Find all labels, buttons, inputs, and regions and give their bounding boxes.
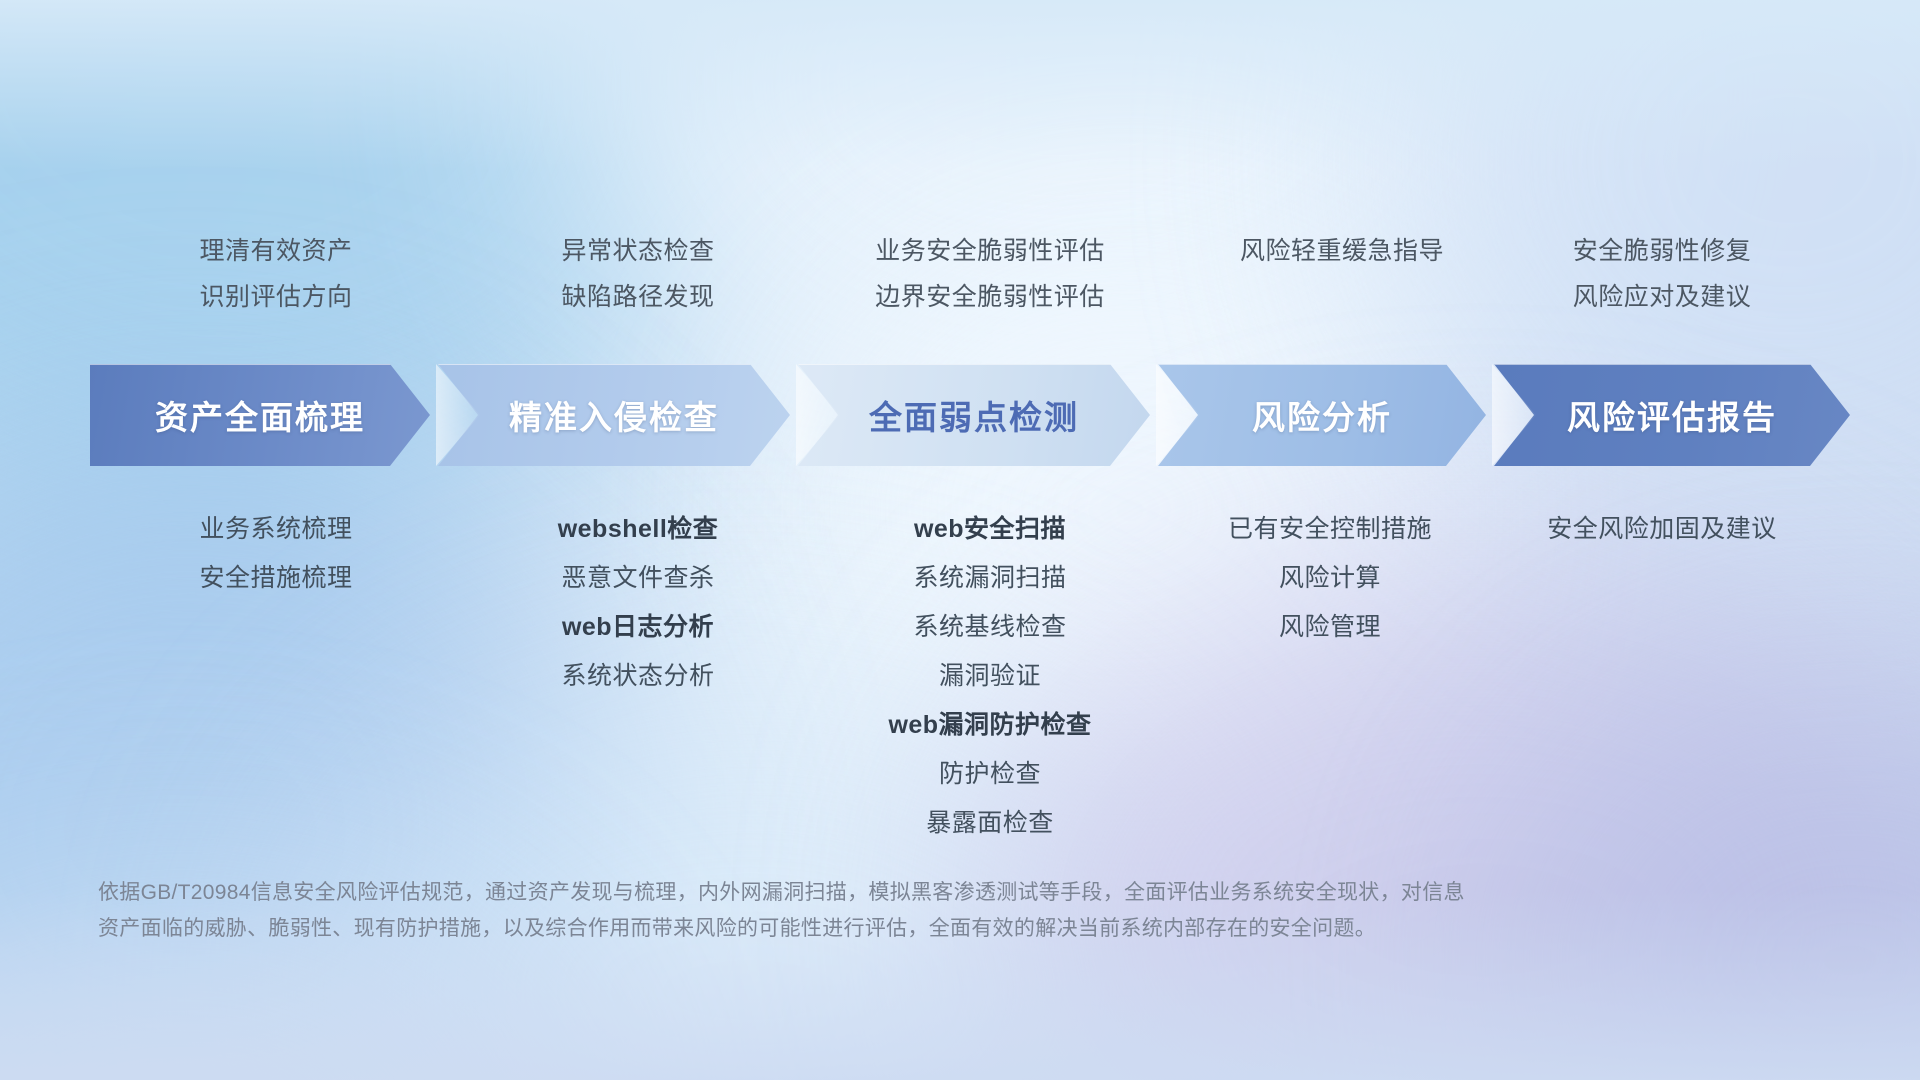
stage-item: 安全风险加固及建议 [1494,505,1830,554]
top-note: 边界安全脆弱性评估 [814,274,1166,320]
top-notes-intrusion-check: 异常状态检查 缺陷路径发现 [462,228,814,320]
top-note: 业务安全脆弱性评估 [814,228,1166,274]
top-note: 风险应对及建议 [1494,274,1830,320]
items-asset-inventory: 业务系统梳理 安全措施梳理 [90,505,462,603]
chevron-title: 全面弱点检测 [869,391,1079,439]
stage-item: 系统漏洞扫描 [814,554,1166,603]
chevron-stage-asset-inventory[interactable]: 资产全面梳理 [90,364,430,466]
chevron-stage-risk-analysis[interactable]: 风险分析 [1158,364,1486,466]
top-note: 理清有效资产 [90,228,462,274]
stage-item: 恶意文件查杀 [462,554,814,603]
stage-item: 系统状态分析 [462,652,814,701]
stage-item: 漏洞验证 [814,652,1166,701]
stage-items-row: 业务系统梳理 安全措施梳理 webshell检查 恶意文件查杀 web日志分析 … [90,505,1830,848]
slide-canvas: 理清有效资产 识别评估方向 异常状态检查 缺陷路径发现 业务安全脆弱性评估 边界… [0,0,1920,1080]
chevron-title: 资产全面梳理 [155,391,365,439]
top-note: 识别评估方向 [90,274,462,320]
top-note: 风险轻重缓急指导 [1178,228,1506,274]
top-notes-risk-report: 安全脆弱性修复 风险应对及建议 [1494,228,1830,320]
footer-description: 依据GB/T20984信息安全风险评估规范，通过资产发现与梳理，内外网漏洞扫描，… [98,875,1618,947]
items-risk-report: 安全风险加固及建议 [1494,505,1830,554]
chevron-stage-intrusion-check[interactable]: 精准入侵检查 [438,364,790,466]
stage-item: 业务系统梳理 [90,505,462,554]
items-risk-analysis: 已有安全控制措施 风险计算 风险管理 [1166,505,1494,652]
chevron-title: 风险分析 [1252,391,1392,439]
top-notes-asset-inventory: 理清有效资产 识别评估方向 [90,228,462,320]
footer-line: 资产面临的威胁、脆弱性、现有防护措施，以及综合作用而带来风险的可能性进行评估，全… [98,911,1618,947]
top-note: 安全脆弱性修复 [1494,228,1830,274]
stage-item: web安全扫描 [814,505,1166,554]
chevron-title: 风险评估报告 [1567,391,1777,439]
process-chevron-band: 资产全面梳理 精准入侵检查 全面弱点检测 风险分析 风险评估报告 [90,364,1850,466]
stage-item: 系统基线检查 [814,603,1166,652]
stage-item: 已有安全控制措施 [1166,505,1494,554]
stage-item: 安全措施梳理 [90,554,462,603]
stage-item: 风险计算 [1166,554,1494,603]
items-weakness-detection: web安全扫描 系统漏洞扫描 系统基线检查 漏洞验证 web漏洞防护检查 防护检… [814,505,1166,848]
top-notes-row: 理清有效资产 识别评估方向 异常状态检查 缺陷路径发现 业务安全脆弱性评估 边界… [90,228,1830,320]
stage-item: 防护检查 [814,750,1166,799]
top-note: 异常状态检查 [462,228,814,274]
chevron-stage-risk-report[interactable]: 风险评估报告 [1494,364,1850,466]
top-notes-risk-analysis: 风险轻重缓急指导 [1166,228,1494,320]
top-notes-weakness-detection: 业务安全脆弱性评估 边界安全脆弱性评估 [814,228,1166,320]
items-intrusion-check: webshell检查 恶意文件查杀 web日志分析 系统状态分析 [462,505,814,701]
chevron-stage-weakness-detection[interactable]: 全面弱点检测 [798,364,1150,466]
chevron-title: 精准入侵检查 [509,391,719,439]
stage-item: webshell检查 [462,505,814,554]
stage-item: web日志分析 [462,603,814,652]
stage-item: web漏洞防护检查 [814,701,1166,750]
stage-item: 风险管理 [1166,603,1494,652]
top-note: 缺陷路径发现 [462,274,814,320]
footer-line: 依据GB/T20984信息安全风险评估规范，通过资产发现与梳理，内外网漏洞扫描，… [98,875,1618,911]
stage-item: 暴露面检查 [814,799,1166,848]
